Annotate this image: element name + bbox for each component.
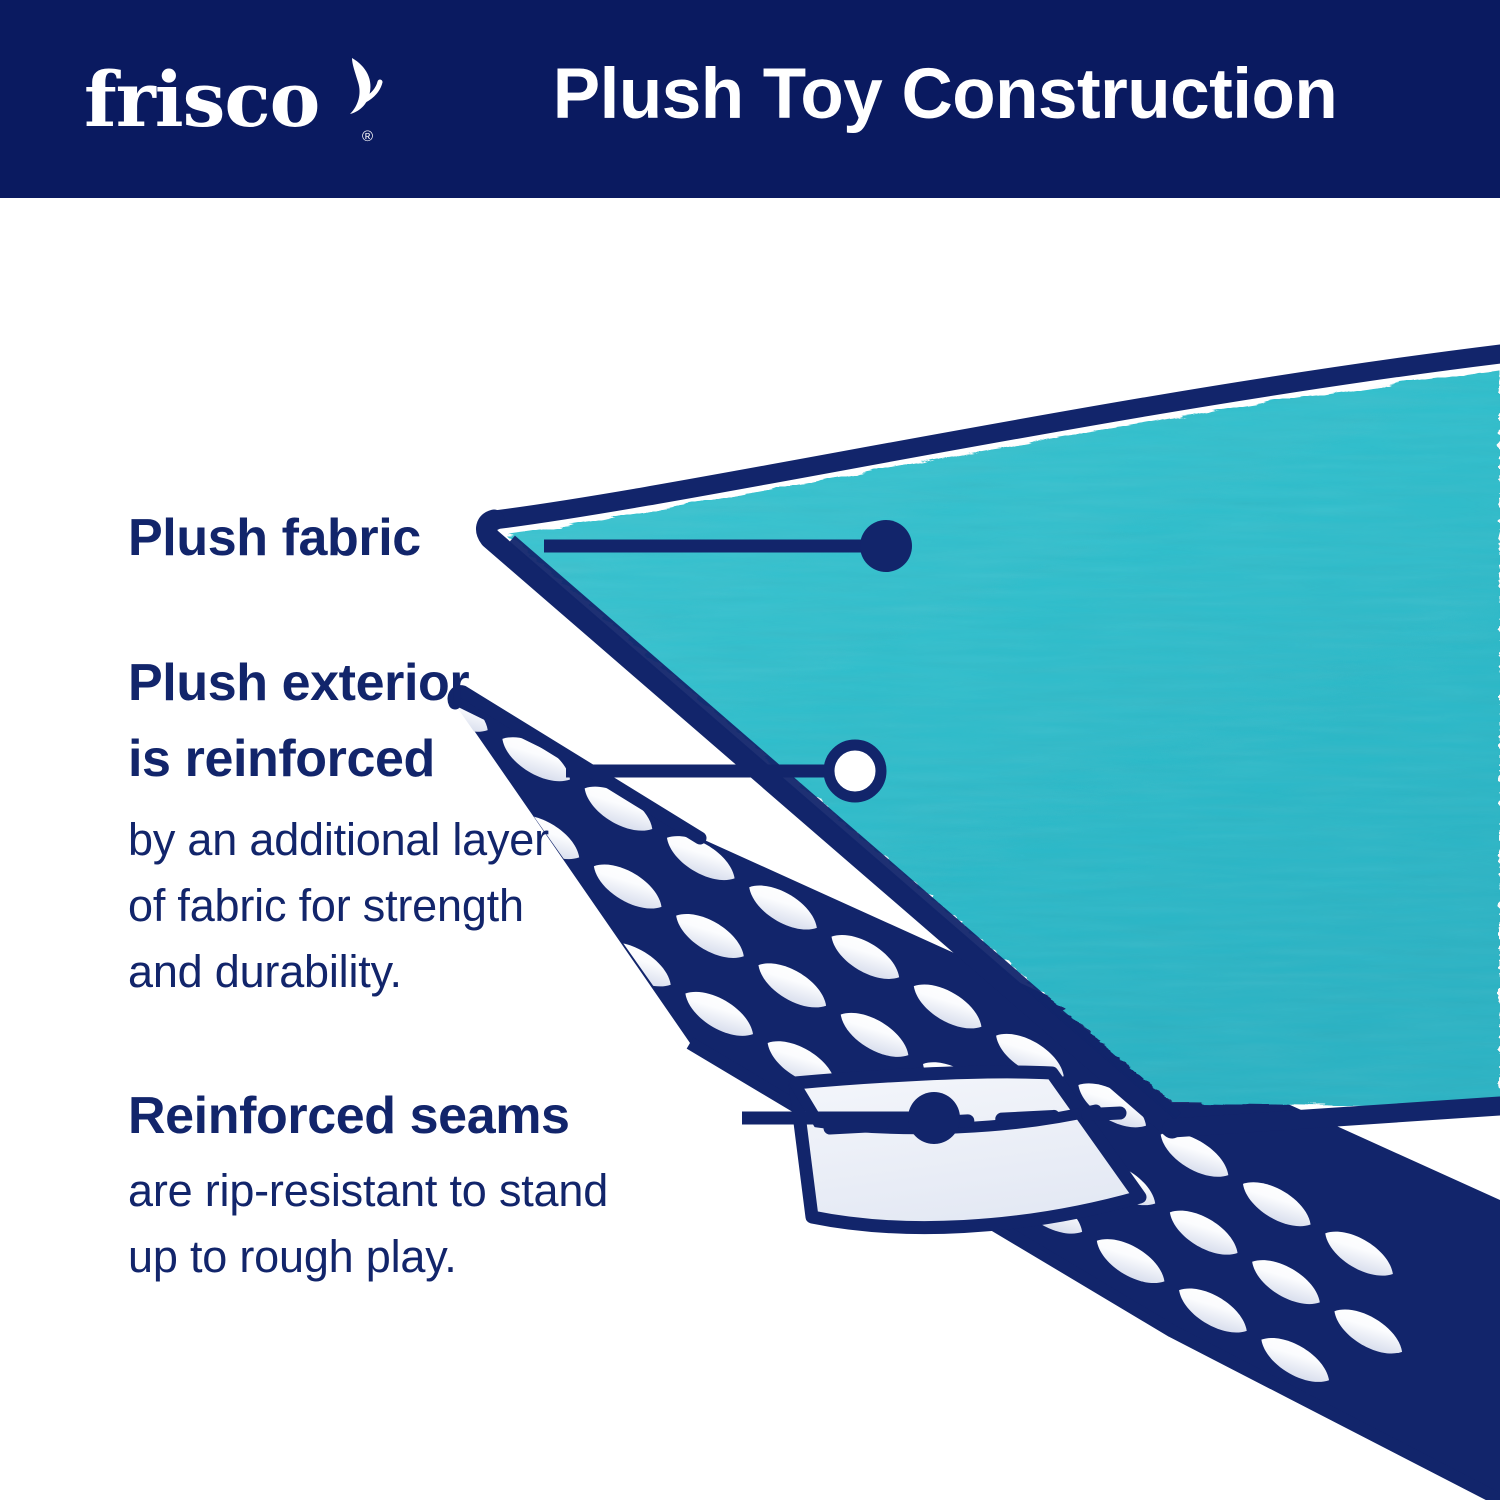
leader-dot-reinforced-seams — [908, 1092, 960, 1144]
leader-dot-plush-fabric — [860, 520, 912, 572]
frisco-logo: frisco ® — [84, 52, 384, 152]
callout-plush-exterior-body-line-1: by an additional layer — [128, 807, 549, 873]
callout-reinforced-seams-body-line-2: up to rough play. — [128, 1224, 608, 1290]
callout-reinforced-seams-body: are rip-resistant to stand up to rough p… — [128, 1158, 608, 1290]
registered-trademark-symbol: ® — [362, 128, 373, 145]
header-bar: frisco ® Plush Toy Construction — [0, 0, 1500, 198]
callout-plush-exterior-body-line-2: of fabric for strength — [128, 873, 549, 939]
callout-plush-exterior-body-line-3: and durability. — [128, 939, 549, 1005]
callout-plush-exterior-heading-line-1: Plush exterior — [128, 645, 549, 721]
callout-plush-fabric-heading: Plush fabric — [128, 500, 421, 576]
leader-open-circle-plush-exterior — [829, 745, 881, 797]
frisco-logo-wordmark: frisco — [84, 52, 319, 148]
callout-plush-exterior-heading-line-2: is reinforced — [128, 721, 549, 797]
callout-reinforced-seams: Reinforced seams are rip-resistant to st… — [128, 1078, 608, 1290]
page-title: Plush Toy Construction — [500, 44, 1390, 146]
callout-reinforced-seams-body-line-1: are rip-resistant to stand — [128, 1158, 608, 1224]
callout-plush-fabric: Plush fabric — [128, 500, 421, 576]
callout-plush-exterior-body: by an additional layer of fabric for str… — [128, 807, 549, 1005]
callout-reinforced-seams-heading: Reinforced seams — [128, 1078, 608, 1154]
callout-plush-exterior: Plush exterior is reinforced by an addit… — [128, 645, 549, 1005]
